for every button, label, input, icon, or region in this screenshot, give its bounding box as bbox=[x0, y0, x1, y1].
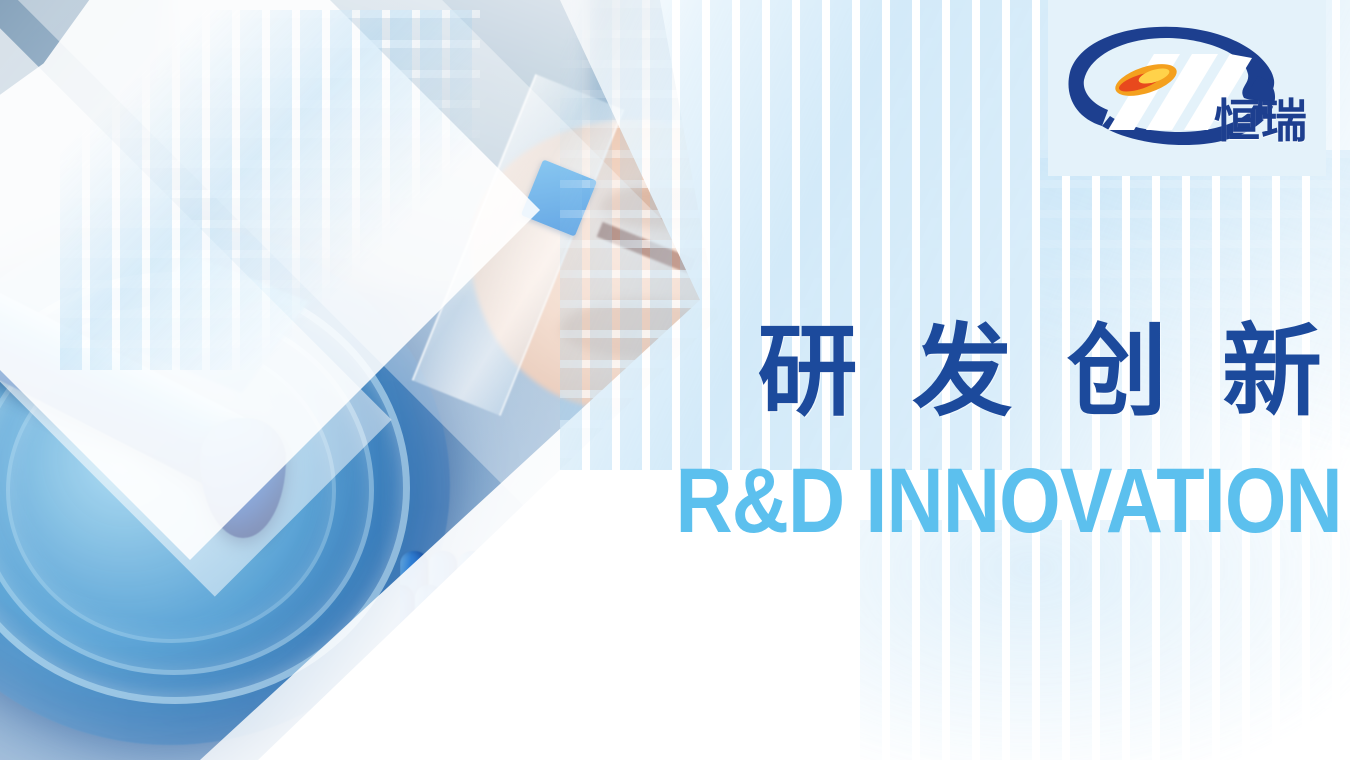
hengrui-logo[interactable]: 恒瑞 bbox=[1062, 18, 1312, 158]
rd-innovation-banner: 恒瑞 研 发 创 新 R&D INNOVATION bbox=[0, 0, 1350, 760]
page-title-english: R&D INNOVATION bbox=[676, 455, 1342, 547]
logo-panel[interactable]: 恒瑞 bbox=[1048, 0, 1326, 176]
page-title-chinese: 研 发 创 新 bbox=[758, 322, 1332, 422]
logo-brand-text: 恒瑞 bbox=[1214, 98, 1308, 144]
